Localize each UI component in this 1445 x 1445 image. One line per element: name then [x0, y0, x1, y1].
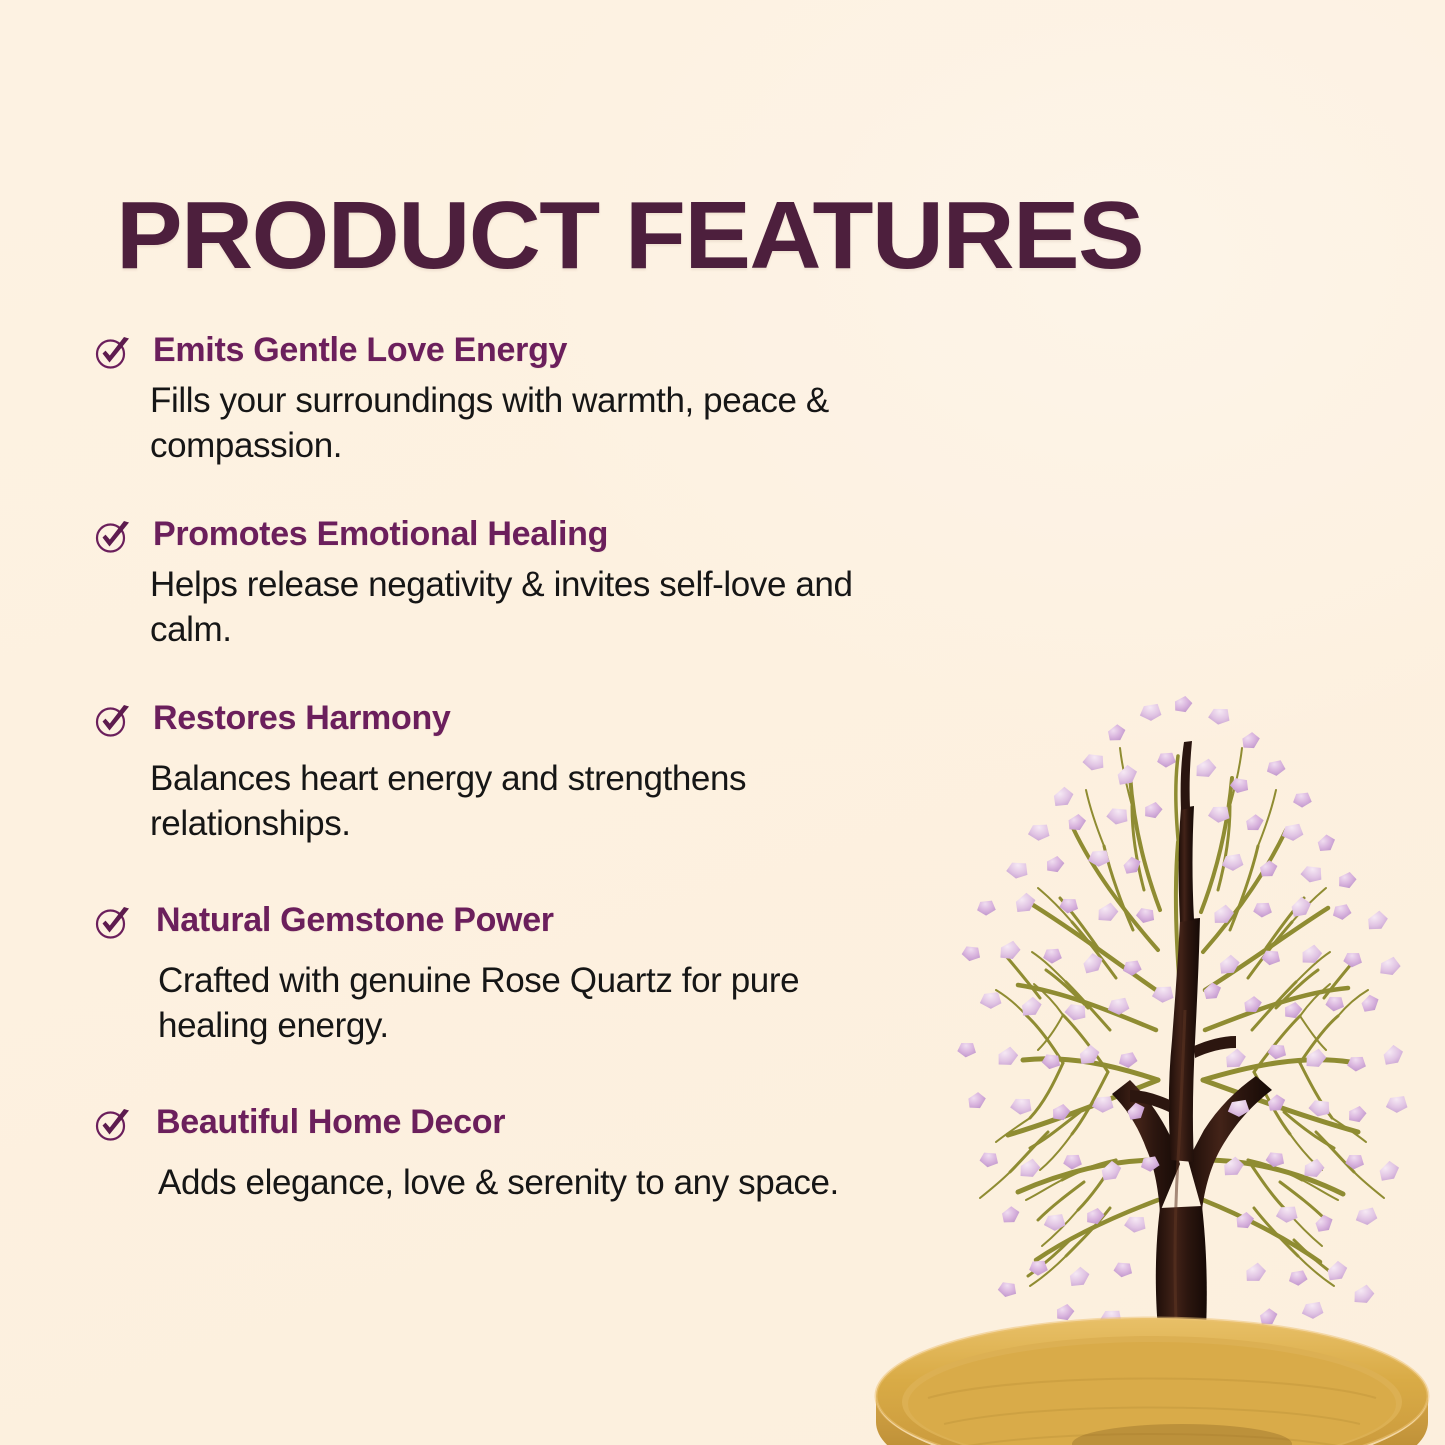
feature-item: Beautiful Home Decor Adds elegance, love… — [0, 1102, 920, 1205]
feature-title: Natural Gemstone Power — [156, 900, 554, 940]
feature-list: Emits Gentle Love Energy Fills your surr… — [0, 330, 920, 1205]
feature-title: Beautiful Home Decor — [156, 1102, 505, 1142]
check-circle-icon — [93, 903, 133, 943]
product-features-page: PRODUCT FEATURES Emits Gentle Love Energ… — [0, 0, 1445, 1445]
page-title: PRODUCT FEATURES — [116, 188, 1143, 284]
wooden-plate-base — [876, 1318, 1428, 1445]
feature-description: Crafted with genuine Rose Quartz for pur… — [158, 958, 888, 1048]
check-circle-icon — [93, 701, 133, 741]
feature-item: Restores Harmony Balances heart energy a… — [0, 698, 920, 846]
check-circle-icon — [93, 517, 133, 557]
feature-description: Balances heart energy and strengthens re… — [150, 756, 920, 846]
feature-description: Adds elegance, love & serenity to any sp… — [158, 1160, 903, 1205]
feature-title: Promotes Emotional Healing — [153, 514, 608, 554]
feature-title: Restores Harmony — [153, 698, 451, 738]
feature-description: Fills your surroundings with warmth, pea… — [150, 378, 920, 468]
check-circle-icon — [93, 1105, 133, 1145]
feature-description: Helps release negativity & invites self-… — [150, 562, 920, 652]
check-circle-icon — [93, 333, 133, 373]
feature-item: Promotes Emotional Healing Helps release… — [0, 514, 920, 652]
tree-illustration — [858, 560, 1445, 1445]
feature-item: Emits Gentle Love Energy Fills your surr… — [0, 330, 920, 468]
feature-title: Emits Gentle Love Energy — [153, 330, 567, 370]
rose-quartz-gemstone-tree-image — [858, 560, 1445, 1445]
feature-item: Natural Gemstone Power Crafted with genu… — [0, 900, 920, 1048]
